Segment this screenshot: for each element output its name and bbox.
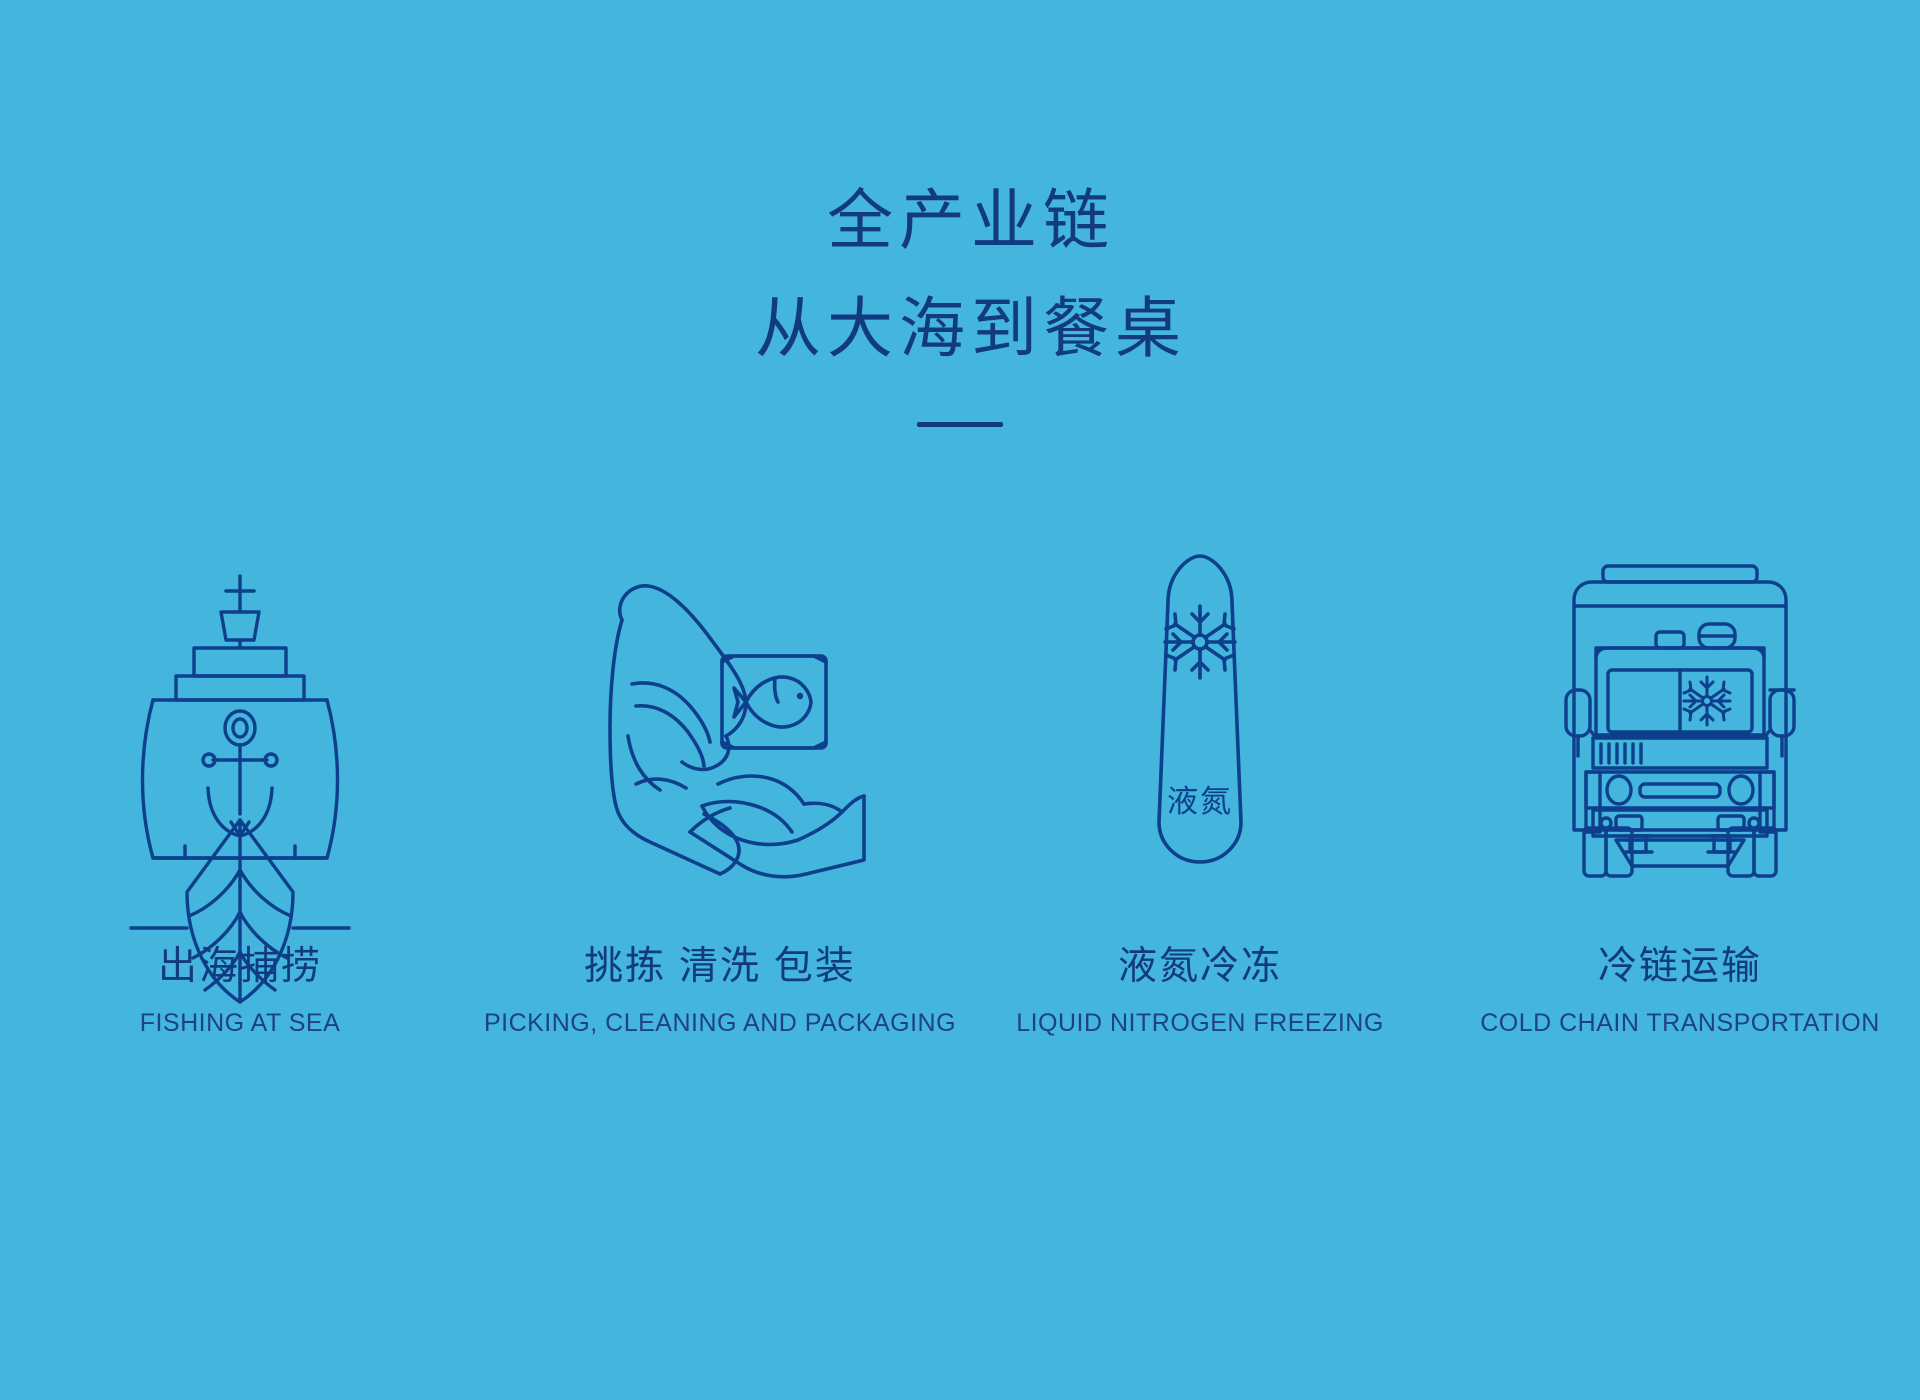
step-liquid-nitrogen-freezing[interactable]: 液氮 液氮冷冻 LIQUID NITROGEN FREEZING	[960, 520, 1440, 1038]
step-cold-chain-transportation[interactable]: 冷链运输 COLD CHAIN TRANSPORTATION	[1440, 520, 1920, 1038]
step-label-en: PICKING, CLEANING AND PACKAGING	[484, 1008, 956, 1038]
title-divider-wrap	[0, 422, 1920, 427]
step-label-cn: 出海捕捞	[140, 944, 341, 990]
tank-label-text: 液氮	[1167, 784, 1233, 819]
infographic-page: 全产业链 从大海到餐桌	[0, 0, 1920, 1400]
step-label-cn: 挑拣 清洗 包装	[484, 944, 956, 990]
hands-fish-package-icon	[570, 570, 870, 880]
step-label-cn: 冷链运输	[1480, 944, 1880, 990]
page-title-line-1: 全产业链	[22, 168, 1920, 276]
refrigerated-truck-icon	[1560, 560, 1800, 880]
snowflake-icon	[1684, 677, 1730, 725]
page-header: 全产业链 从大海到餐桌	[0, 168, 1920, 427]
step-picking-cleaning-packaging[interactable]: 挑拣 清洗 包装 PICKING, CLEANING AND PACKAGING	[480, 520, 960, 1038]
step-caption: 液氮冷冻 LIQUID NITROGEN FREEZING	[1016, 944, 1384, 1038]
fishing-boat-icon	[125, 570, 355, 880]
step-caption: 冷链运输 COLD CHAIN TRANSPORTATION	[1480, 944, 1880, 1038]
hands-fish-package-icon-box	[570, 520, 870, 880]
step-fishing-at-sea[interactable]: 出海捕捞 FISHING AT SEA	[0, 520, 480, 1038]
title-divider	[917, 422, 1003, 427]
step-label-en: FISHING AT SEA	[140, 1008, 341, 1038]
refrigerated-truck-icon-box	[1560, 520, 1800, 880]
process-steps: 出海捕捞 FISHING AT SEA	[0, 520, 1920, 1038]
step-label-en: LIQUID NITROGEN FREEZING	[1016, 1008, 1384, 1038]
page-title-line-2: 从大海到餐桌	[22, 276, 1920, 384]
step-label-cn: 液氮冷冻	[1016, 944, 1384, 990]
liquid-nitrogen-tank-icon-box: 液氮	[1135, 520, 1265, 880]
step-caption: 挑拣 清洗 包装 PICKING, CLEANING AND PACKAGING	[484, 944, 956, 1038]
step-label-en: COLD CHAIN TRANSPORTATION	[1480, 1008, 1880, 1038]
fishing-boat-icon-box	[125, 520, 355, 880]
step-caption: 出海捕捞 FISHING AT SEA	[140, 944, 341, 1038]
snowflake-icon	[1165, 606, 1235, 678]
liquid-nitrogen-tank-icon: 液氮	[1135, 550, 1265, 880]
